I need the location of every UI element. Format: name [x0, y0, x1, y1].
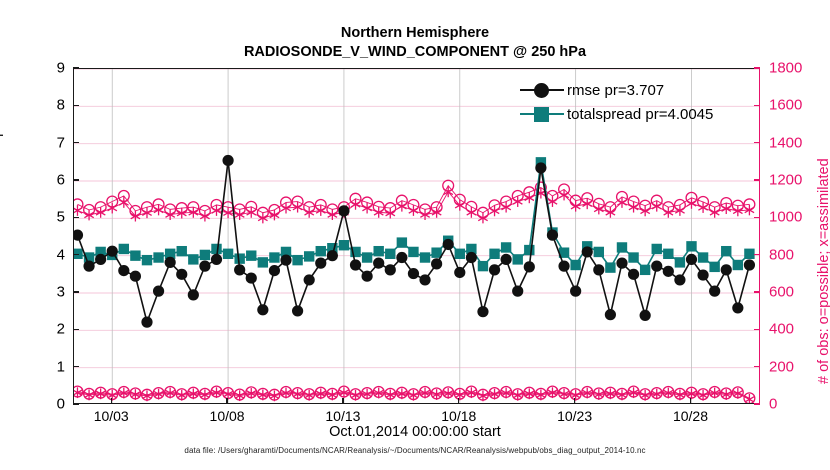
- totalspread-marker: [362, 252, 372, 262]
- rmse-marker: [83, 261, 94, 272]
- y-tick-right: 400: [769, 321, 815, 338]
- title-line-1: Northern Hemisphere: [0, 24, 830, 43]
- y-tick-mark-left: [73, 105, 79, 106]
- legend: rmse pr=3.707 totalspread pr=4.0045: [520, 78, 750, 126]
- rmse-marker: [362, 271, 373, 282]
- totalspread-marker: [408, 247, 418, 257]
- rmse-marker: [732, 302, 743, 313]
- totalspread-marker: [709, 262, 719, 272]
- rmse-marker: [385, 264, 396, 275]
- rmse-marker: [651, 261, 662, 272]
- totalspread-marker: [640, 265, 650, 275]
- data-file-footer: data file: /Users/gharamti/Documents/NCA…: [0, 446, 830, 455]
- rmse-marker: [744, 259, 755, 270]
- series-line: [77, 160, 749, 322]
- y-tick-left: 0: [35, 396, 65, 413]
- y-tick-mark-left: [73, 254, 79, 255]
- x-tick-label: 10/28: [655, 408, 725, 424]
- totalspread-marker: [570, 260, 580, 270]
- totalspread-marker: [223, 249, 233, 259]
- x-tick-mark: [574, 398, 575, 404]
- totalspread-marker: [605, 262, 615, 272]
- rmse-marker: [176, 269, 187, 280]
- totalspread-marker: [269, 252, 279, 262]
- totalspread-marker: [373, 246, 383, 256]
- totalspread-marker: [733, 260, 743, 270]
- totalspread-marker: [513, 254, 523, 264]
- legend-label-totalspread: totalspread pr=4.0045: [567, 106, 713, 123]
- rmse-marker: [616, 258, 627, 269]
- y-tick-right: 200: [769, 358, 815, 375]
- rmse-marker: [547, 230, 558, 241]
- rmse-marker: [663, 266, 674, 277]
- y-tick-right: 1800: [769, 60, 815, 77]
- rmse-marker: [466, 252, 477, 263]
- totalspread-marker: [594, 247, 604, 257]
- y-tick-mark-left: [73, 217, 79, 218]
- rmse-marker: [338, 205, 349, 216]
- y-axis-left-label: rmse and totalspread: [0, 100, 4, 236]
- y-tick-right: 600: [769, 284, 815, 301]
- rmse-marker: [443, 239, 454, 250]
- rmse-marker: [165, 257, 176, 268]
- rmse-marker: [628, 269, 639, 280]
- y-tick-right: 1000: [769, 209, 815, 226]
- rmse-marker: [211, 254, 222, 265]
- totalspread-marker: [501, 242, 511, 252]
- rmse-marker: [501, 254, 512, 265]
- x-tick-label: 10/03: [76, 408, 146, 424]
- totalspread-marker: [675, 257, 685, 267]
- series--obs-possible: [74, 180, 755, 218]
- totalspread-marker: [130, 250, 140, 260]
- rmse-marker: [222, 155, 233, 166]
- totalspread-marker: [686, 241, 696, 251]
- totalspread-marker: [652, 244, 662, 254]
- rmse-marker: [130, 271, 141, 282]
- rmse-marker: [107, 246, 118, 257]
- legend-marker-rmse: [520, 81, 564, 99]
- totalspread-marker: [316, 246, 326, 256]
- y-tick-mark-left: [73, 142, 79, 143]
- rmse-marker: [257, 304, 268, 315]
- x-axis-label: Oct.01,2014 00:00:00 start: [0, 424, 830, 440]
- legend-item-rmse[interactable]: rmse pr=3.707: [520, 78, 750, 102]
- legend-label-rmse: rmse pr=3.707: [567, 82, 664, 99]
- rmse-marker: [74, 230, 83, 241]
- rmse-marker: [141, 317, 152, 328]
- y-tick-right: 800: [769, 246, 815, 263]
- rmse-marker: [512, 286, 523, 297]
- legend-item-totalspread[interactable]: totalspread pr=4.0045: [520, 102, 750, 126]
- rmse-marker: [292, 305, 303, 316]
- totalspread-marker: [292, 255, 302, 265]
- rmse-marker: [315, 258, 326, 269]
- y-tick-right: 1200: [769, 172, 815, 189]
- rmse-marker: [350, 259, 361, 270]
- x-tick-mark: [690, 398, 691, 404]
- rmse-marker: [674, 274, 685, 285]
- rmse-marker: [118, 265, 129, 276]
- rmse-marker: [686, 254, 697, 265]
- totalspread-marker: [628, 252, 638, 262]
- totalspread-marker: [339, 240, 349, 250]
- rmse-marker: [419, 274, 430, 285]
- y-tick-left: 1: [35, 358, 65, 375]
- title-line-2: RADIOSONDE_V_WIND_COMPONENT @ 250 hPa: [0, 43, 830, 62]
- totalspread-marker: [385, 249, 395, 259]
- rmse-marker: [605, 309, 616, 320]
- series-totalspread-pr-4-0045: [74, 157, 755, 275]
- totalspread-marker: [258, 257, 268, 267]
- totalspread-marker: [177, 246, 187, 256]
- rmse-marker: [408, 268, 419, 279]
- rmse-marker: [697, 269, 708, 280]
- rmse-marker: [188, 289, 199, 300]
- rmse-marker: [454, 267, 465, 278]
- rmse-marker: [234, 264, 245, 275]
- x-tick-mark: [458, 398, 459, 404]
- rmse-marker: [327, 250, 338, 261]
- rmse-marker: [280, 255, 291, 266]
- chart-page: Northern Hemisphere RADIOSONDE_V_WIND_CO…: [0, 0, 830, 470]
- totalspread-marker: [397, 237, 407, 247]
- totalspread-marker: [617, 242, 627, 252]
- y-tick-mark-left: [73, 329, 79, 330]
- totalspread-marker: [200, 250, 210, 260]
- y-tick-left: 6: [35, 172, 65, 189]
- totalspread-marker: [698, 252, 708, 262]
- totalspread-marker: [524, 245, 534, 255]
- y-tick-mark-left: [73, 291, 79, 292]
- totalspread-marker: [246, 250, 256, 260]
- totalspread-marker: [153, 252, 163, 262]
- rmse-marker: [524, 261, 535, 272]
- rmse-marker: [640, 310, 651, 321]
- y-tick-mark-left: [73, 403, 79, 404]
- x-tick-mark: [111, 398, 112, 404]
- y-tick-left: 7: [35, 134, 65, 151]
- y-tick-left: 9: [35, 60, 65, 77]
- totalspread-marker: [455, 249, 465, 259]
- right-spine: [759, 68, 760, 404]
- rmse-marker: [709, 286, 720, 297]
- x-tick-mark: [226, 398, 227, 404]
- x-tick-mark: [342, 398, 343, 404]
- totalspread-marker: [663, 249, 673, 259]
- y-axis-right-label: # of obs: o=possible; x=assimilated: [816, 158, 830, 384]
- totalspread-marker: [119, 244, 129, 254]
- legend-square-icon: [534, 107, 549, 122]
- totalspread-marker: [142, 255, 152, 265]
- rmse-marker: [582, 246, 593, 257]
- totalspread-marker: [489, 249, 499, 259]
- rmse-marker: [396, 252, 407, 263]
- rmse-marker: [153, 286, 164, 297]
- x-tick-label: 10/23: [540, 408, 610, 424]
- rmse-marker: [431, 258, 442, 269]
- rmse-marker: [558, 261, 569, 272]
- rmse-marker: [269, 265, 280, 276]
- rmse-marker: [570, 286, 581, 297]
- totalspread-marker: [478, 261, 488, 271]
- y-tick-mark-left: [73, 67, 79, 68]
- totalspread-marker: [304, 251, 314, 261]
- y-tick-right: 1600: [769, 97, 815, 114]
- rmse-marker: [373, 258, 384, 269]
- y-tick-mark-left: [73, 366, 79, 367]
- rmse-marker: [304, 274, 315, 285]
- page-title: Northern Hemisphere RADIOSONDE_V_WIND_CO…: [0, 24, 830, 62]
- rmse-marker: [489, 264, 500, 275]
- rmse-marker: [477, 306, 488, 317]
- x-tick-label: 10/13: [308, 408, 378, 424]
- rmse-marker: [535, 162, 546, 173]
- legend-marker-totalspread: [520, 105, 564, 123]
- rmse-marker: [95, 254, 106, 265]
- y-tick-right: 0: [769, 396, 815, 413]
- y-tick-mark-left: [73, 179, 79, 180]
- x-tick-label: 10/18: [424, 408, 494, 424]
- y-tick-right: 1400: [769, 134, 815, 151]
- legend-circle-icon: [534, 83, 549, 98]
- x-tick-label: 10/08: [192, 408, 262, 424]
- y-tick-left: 2: [35, 321, 65, 338]
- y-tick-left: 5: [35, 209, 65, 226]
- totalspread-marker: [420, 252, 430, 262]
- totalspread-marker: [188, 254, 198, 264]
- rmse-marker: [593, 264, 604, 275]
- rmse-marker: [199, 261, 210, 272]
- y-tick-left: 3: [35, 284, 65, 301]
- rmse-marker: [721, 264, 732, 275]
- y-tick-left: 4: [35, 246, 65, 263]
- totalspread-marker: [721, 246, 731, 256]
- rmse-marker: [246, 272, 257, 283]
- y-tick-left: 8: [35, 97, 65, 114]
